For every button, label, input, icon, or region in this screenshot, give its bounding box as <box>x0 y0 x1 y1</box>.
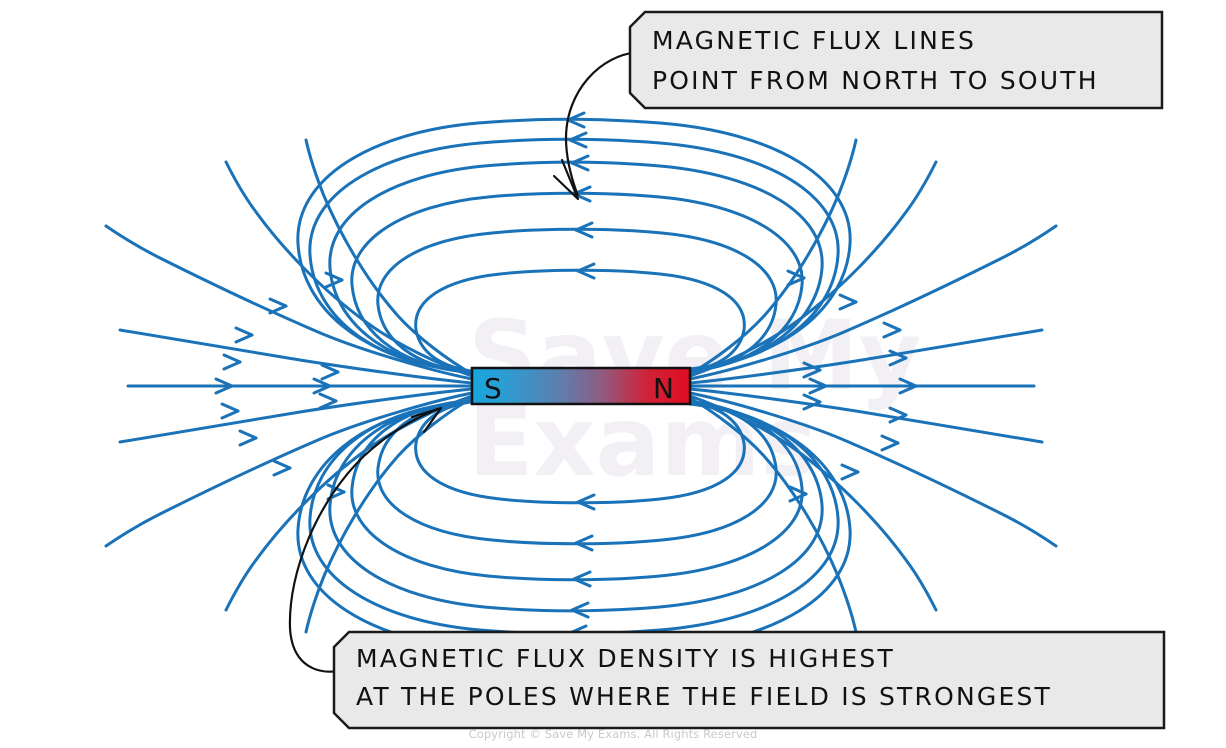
copyright-notice: Copyright © Save My Exams. All Rights Re… <box>0 727 1226 741</box>
magnet-south-label: S <box>484 372 502 405</box>
field-arrow-top-group <box>568 113 594 278</box>
callout-top-line-1: MAGNETIC FLUX LINES <box>652 26 976 55</box>
callout-top-line-2: POINT FROM NORTH TO SOUTH <box>652 66 1099 95</box>
callout-bottom-line-2: AT THE POLES WHERE THE FIELD IS STRONGES… <box>356 682 1052 711</box>
magnetic-field-illustration: S N <box>0 0 1226 748</box>
field-loop-top-group <box>298 119 850 372</box>
diagram-canvas: Save My Exams <box>0 0 1226 748</box>
magnet-north-label: N <box>653 372 674 405</box>
field-fan-north-group <box>690 140 1056 632</box>
callout-bottom-line-1: MAGNETIC FLUX DENSITY IS HIGHEST <box>356 644 895 673</box>
